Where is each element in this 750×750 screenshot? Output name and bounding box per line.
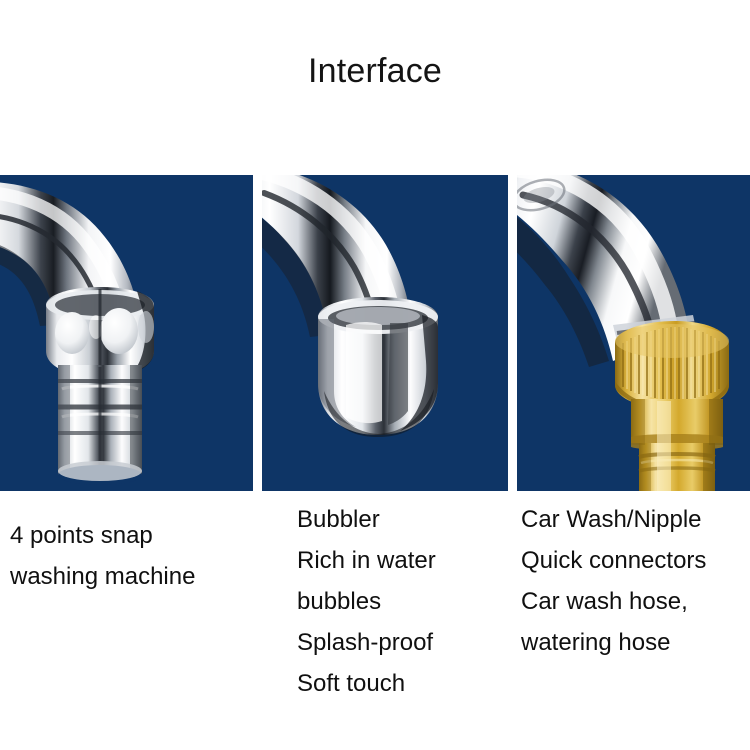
faucet-brass-quick-connector-icon bbox=[517, 175, 750, 491]
caption-line: Bubbler bbox=[297, 499, 436, 540]
product-image-panel-3 bbox=[517, 175, 750, 491]
product-image-panel-2 bbox=[262, 175, 508, 491]
title-bar: Interface bbox=[0, 0, 750, 175]
caption-line: bubbles bbox=[297, 581, 436, 622]
caption-line: Quick connectors bbox=[521, 540, 706, 581]
page-title: Interface bbox=[308, 52, 442, 91]
caption-line: Car wash hose, bbox=[521, 581, 706, 622]
caption-column-1: 4 points snap washing machine bbox=[10, 515, 195, 597]
caption-line: 4 points snap bbox=[10, 515, 195, 556]
caption-column-2: Bubbler Rich in water bubbles Splash-pro… bbox=[297, 499, 436, 704]
caption-column-3: Car Wash/Nipple Quick connectors Car was… bbox=[521, 499, 706, 663]
faucet-bubbler-aerator-icon bbox=[262, 175, 508, 491]
product-image-strip bbox=[0, 175, 750, 491]
panel-divider-2 bbox=[508, 175, 517, 491]
faucet-4-point-snap-connector-icon bbox=[0, 175, 253, 491]
caption-line: Soft touch bbox=[297, 663, 436, 704]
caption-line: Car Wash/Nipple bbox=[521, 499, 706, 540]
caption-line: watering hose bbox=[521, 622, 706, 663]
panel-divider-1 bbox=[253, 175, 262, 491]
caption-line: Rich in water bbox=[297, 540, 436, 581]
caption-area: 4 points snap washing machine Bubbler Ri… bbox=[0, 491, 750, 750]
caption-line: Splash-proof bbox=[297, 622, 436, 663]
product-image-panel-1 bbox=[0, 175, 253, 491]
caption-line: washing machine bbox=[10, 556, 195, 597]
